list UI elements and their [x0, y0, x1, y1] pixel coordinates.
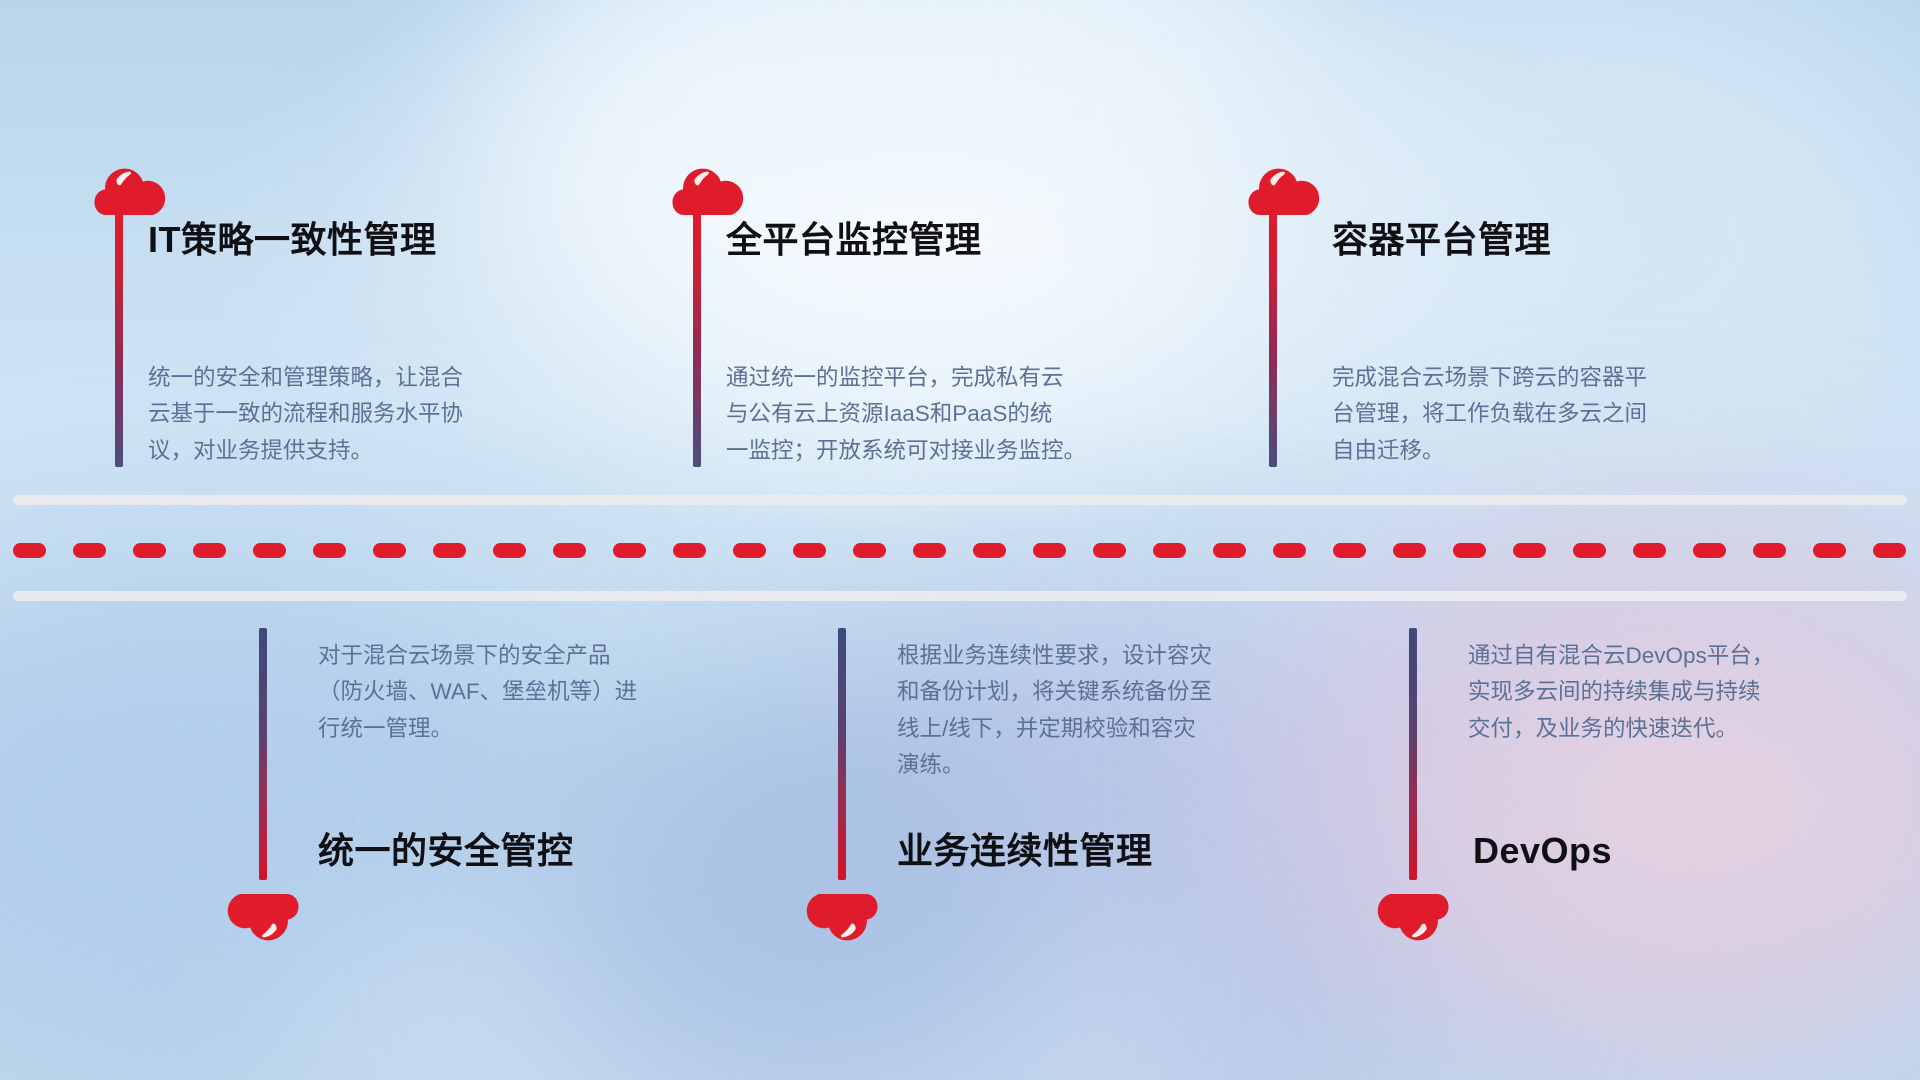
card-body-line: 实现多云间的持续集成与持续	[1468, 674, 1898, 710]
cloud-icon	[672, 158, 744, 216]
card-body-line: 完成混合云场景下跨云的容器平	[1332, 360, 1762, 396]
card-body-line: 交付，及业务的快速迭代。	[1468, 711, 1898, 747]
road-dash	[553, 543, 586, 558]
card-body-line: 与公有云上资源IaaS和PaaS的统	[726, 396, 1156, 432]
road-dash	[913, 543, 946, 558]
infographic-canvas: IT策略一致性管理 统一的安全和管理策略，让混合 云基于一致的流程和服务水平协 …	[0, 0, 1920, 1080]
stem-connector	[1269, 212, 1277, 467]
card-title-text: DevOps	[1473, 830, 1612, 871]
road-dash	[253, 543, 286, 558]
card-body-line: 通过自有混合云DevOps平台，	[1468, 638, 1898, 674]
card-body-line: 一监控；开放系统可对接业务监控。	[726, 433, 1156, 469]
card-body: 对于混合云场景下的安全产品 （防火墙、WAF、堡垒机等）进 行统一管理。	[318, 638, 748, 747]
stem-connector	[693, 212, 701, 467]
road-dash	[193, 543, 226, 558]
road-dash	[13, 543, 46, 558]
card-title: 全平台监控管理	[726, 222, 982, 258]
card-title-text: 全平台监控管理	[726, 219, 982, 260]
road-dash	[1093, 543, 1126, 558]
road-dash	[1513, 543, 1546, 558]
road-dash	[73, 543, 106, 558]
card-title: 统一的安全管控	[318, 833, 574, 869]
card-title-text: 业务连续性管理	[897, 830, 1153, 871]
road-dash	[613, 543, 646, 558]
card-body-line: 行统一管理。	[318, 711, 748, 747]
card-body-line: 自由迁移。	[1332, 433, 1762, 469]
card-body-line: 对于混合云场景下的安全产品	[318, 638, 748, 674]
road-dash	[493, 543, 526, 558]
road-dash	[1153, 543, 1186, 558]
card-body: 通过统一的监控平台，完成私有云 与公有云上资源IaaS和PaaS的统 一监控；开…	[726, 360, 1156, 469]
road-dash	[1213, 543, 1246, 558]
cloud-icon	[806, 893, 878, 951]
road-dashed-centerline	[13, 543, 1909, 558]
road-dash	[673, 543, 706, 558]
road-dash	[1753, 543, 1786, 558]
card-title-text: 容器平台管理	[1332, 219, 1551, 260]
road-dash	[1633, 543, 1666, 558]
card-body-line: 台管理，将工作负载在多云之间	[1332, 396, 1762, 432]
road-dash	[793, 543, 826, 558]
card-title-text: 统一的安全管控	[318, 830, 574, 871]
road-dash	[1873, 543, 1906, 558]
road-dash	[373, 543, 406, 558]
stem-connector	[838, 628, 846, 880]
road-line-upper	[13, 495, 1907, 505]
road-dash	[1033, 543, 1066, 558]
road-dash	[1393, 543, 1426, 558]
stem-connector	[1409, 628, 1417, 880]
road-dash	[1693, 543, 1726, 558]
road-dash	[1573, 543, 1606, 558]
card-body-line: 线上/线下，并定期校验和容灾	[897, 711, 1327, 747]
cloud-icon	[227, 893, 299, 951]
card-title: 业务连续性管理	[897, 833, 1153, 869]
road-dash	[973, 543, 1006, 558]
road-dash	[313, 543, 346, 558]
road-dash	[1333, 543, 1366, 558]
road-dash	[133, 543, 166, 558]
card-body-line: （防火墙、WAF、堡垒机等）进	[318, 674, 748, 710]
stem-connector	[259, 628, 267, 880]
card-body: 通过自有混合云DevOps平台， 实现多云间的持续集成与持续 交付，及业务的快速…	[1468, 638, 1898, 747]
road-dash	[433, 543, 466, 558]
road-dash	[853, 543, 886, 558]
cloud-icon	[1248, 158, 1320, 216]
card-bottom-3: 通过自有混合云DevOps平台， 实现多云间的持续集成与持续 交付，及业务的快速…	[0, 0, 640, 480]
card-title: DevOps	[1473, 833, 1612, 869]
card-body-line: 演练。	[897, 747, 1327, 783]
road-dash	[1453, 543, 1486, 558]
road-line-lower	[13, 591, 1907, 601]
cloud-icon	[1377, 893, 1449, 951]
road-dash	[733, 543, 766, 558]
card-body-line: 通过统一的监控平台，完成私有云	[726, 360, 1156, 396]
card-body-line: 根据业务连续性要求，设计容灾	[897, 638, 1327, 674]
road-dash	[1813, 543, 1846, 558]
card-body: 完成混合云场景下跨云的容器平 台管理，将工作负载在多云之间 自由迁移。	[1332, 360, 1762, 469]
road-dash	[1273, 543, 1306, 558]
card-title: 容器平台管理	[1332, 222, 1551, 258]
card-body-line: 和备份计划，将关键系统备份至	[897, 674, 1327, 710]
card-body: 根据业务连续性要求，设计容灾 和备份计划，将关键系统备份至 线上/线下，并定期校…	[897, 638, 1327, 784]
